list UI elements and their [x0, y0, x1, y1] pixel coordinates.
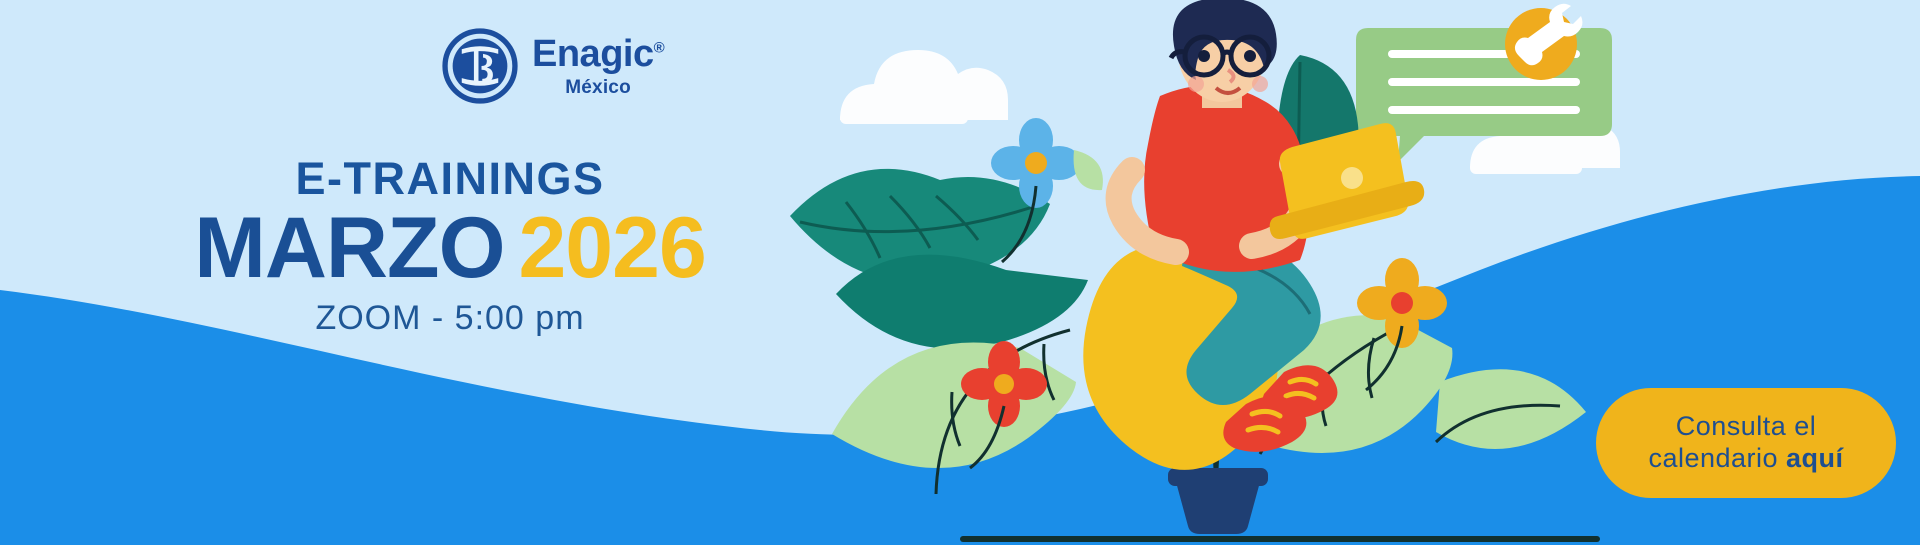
- cta-line-2-bold: aquí: [1786, 443, 1844, 473]
- eye-icon-right: [1244, 50, 1256, 62]
- cta-line-2-prefix: calendario: [1648, 443, 1786, 473]
- cta-line-2: calendario aquí: [1648, 443, 1843, 475]
- cta-line-1: Consulta el: [1676, 411, 1817, 443]
- e-training-banner: Enagic® México E-TRAININGS MARZO2026 ZOO…: [0, 0, 1920, 545]
- ground-line: [960, 536, 1600, 542]
- calendar-cta-button[interactable]: Consulta el calendario aquí: [1596, 388, 1896, 498]
- eye-icon-left: [1198, 50, 1210, 62]
